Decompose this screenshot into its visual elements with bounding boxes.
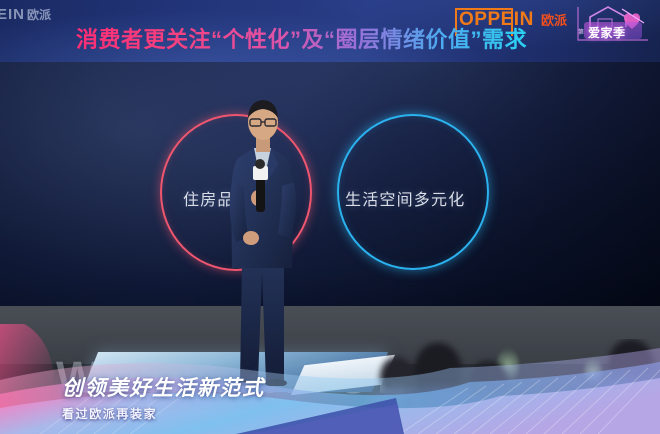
lower-third-text: 创领美好生活新范式 看过欧派再装家 bbox=[62, 372, 265, 422]
lower-third-subtitle: 看过欧派再装家 bbox=[62, 405, 265, 422]
lower-third-title: 创领美好生活新范式 bbox=[62, 372, 265, 402]
badge-prefix: 第 bbox=[578, 27, 584, 36]
page-title: 消费者更关注“个性化”及“圈层情绪价值”需求 bbox=[76, 22, 527, 54]
watermark-oppein-left: PEIN欧派 bbox=[0, 6, 51, 23]
circle-space-diversity-label: 生活空间多元化 bbox=[345, 186, 465, 210]
watermark-left-cn: 欧派 bbox=[27, 8, 51, 22]
screenshot-root: 住房品质化 生活空间多元化 WONDERFUL bbox=[0, 0, 660, 434]
badge-ai-jia-ji: 第 爱家季 bbox=[574, 3, 652, 44]
badge-label: 爱家季 bbox=[588, 24, 626, 41]
logo-oppein-cn: 欧派 bbox=[541, 10, 567, 29]
stage-scene: 住房品质化 生活空间多元化 WONDERFUL bbox=[0, 0, 660, 434]
watermark-left-word: PEIN bbox=[0, 6, 25, 23]
header-band: PEIN欧派 OPPEIN 欧派 消费者更关注“个性化”及“圈层情绪价值”需求 bbox=[0, 0, 660, 62]
